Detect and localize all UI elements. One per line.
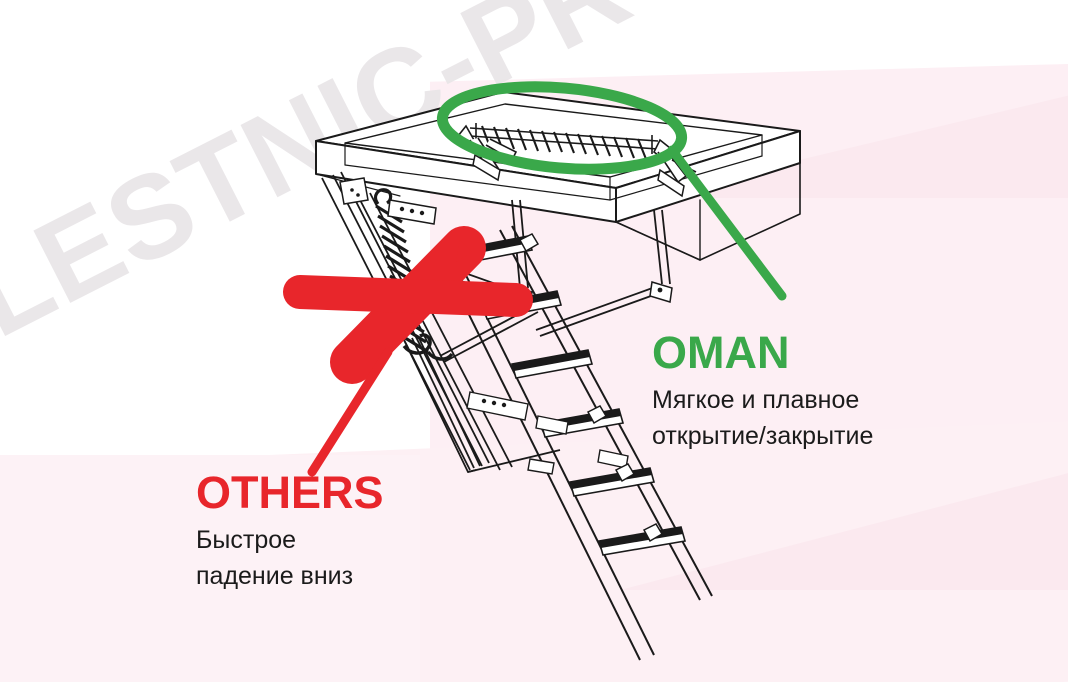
others-description: Быстрое падение вниз	[196, 523, 384, 594]
ceiling-hatch-box	[316, 92, 800, 260]
mounting-plate-left	[340, 178, 368, 204]
oman-description: Мягкое и плавное открытие/закрытие	[652, 383, 873, 454]
illustration-canvas: LESTNIC-PROSTO.RU	[0, 0, 1068, 682]
rivet-bracket-upper	[388, 200, 436, 224]
oman-title: OMAN	[652, 330, 873, 375]
callout-oman: OMAN Мягкое и плавное открытие/закрытие	[652, 330, 873, 454]
others-title: OTHERS	[196, 470, 384, 515]
loft-ladder-drawing	[0, 0, 1068, 682]
callout-others: OTHERS Быстрое падение вниз	[196, 470, 384, 594]
